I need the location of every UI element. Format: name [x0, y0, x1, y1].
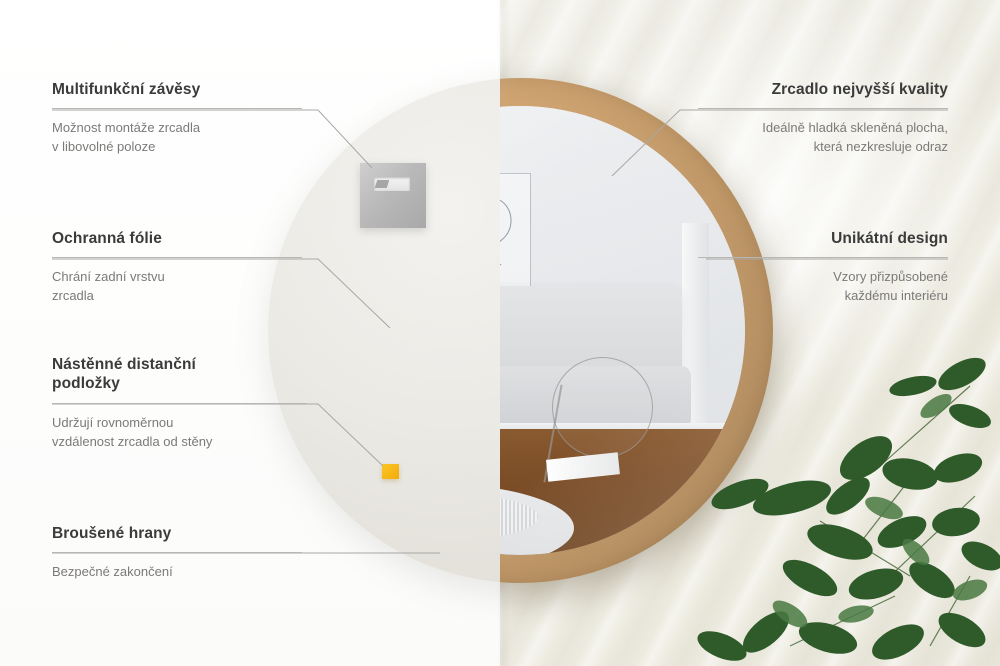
callout-title-line: podložky [52, 374, 307, 393]
callout-rule [698, 108, 948, 109]
callout-desc-line: vzdálenost zrcadla od stěny [52, 433, 307, 452]
mirror-glass-sheen [500, 106, 745, 555]
callout-rule [698, 257, 948, 258]
callout-desc: Udržují rovnoměrnou vzdálenost zrcadla o… [52, 414, 307, 452]
callout-desc-line: Chrání zadní vrstvu [52, 268, 302, 287]
callout-desc-line: v libovolné poloze [52, 138, 302, 157]
callout-desc-line: Vzory přizpůsobené [698, 268, 948, 287]
callout-rule [52, 257, 302, 258]
callout-desc-line: Udržují rovnoměrnou [52, 414, 307, 433]
wall-hanger-plate [360, 163, 426, 228]
callout-desc-line: Bezpečné zakončení [52, 563, 302, 582]
callout-rule [52, 108, 302, 109]
callout-desc: Ideálně hladká skleněná plocha, která ne… [698, 119, 948, 157]
mirror-glass [500, 106, 745, 555]
callout-desc-line: Ideálně hladká skleněná plocha, [698, 119, 948, 138]
callout-title: Zrcadlo nejvyšší kvality [698, 80, 948, 99]
callout-title: Nástěnné distanční podložky [52, 355, 307, 394]
callout-desc-line: která nezkresluje odraz [698, 138, 948, 157]
callout-multifunkcni-zavesy: Multifunkční závěsy Možnost montáže zrca… [52, 80, 302, 157]
callout-nastenne-distancni-podlozky: Nástěnné distanční podložky Udržují rovn… [52, 355, 307, 451]
infographic-canvas: Multifunkční závěsy Možnost montáže zrca… [0, 0, 1000, 666]
callout-desc-line: Možnost montáže zrcadla [52, 119, 302, 138]
callout-desc-line: každému interiéru [698, 287, 948, 306]
callout-desc: Bezpečné zakončení [52, 563, 302, 582]
callout-desc: Možnost montáže zrcadla v libovolné polo… [52, 119, 302, 157]
callout-desc-line: zrcadla [52, 287, 302, 306]
callout-ochranna-folie: Ochranná fólie Chrání zadní vrstvu zrcad… [52, 229, 302, 306]
callout-title: Broušené hrany [52, 524, 302, 543]
callout-title-line: Nástěnné distanční [52, 355, 307, 374]
callout-brousene-hrany: Broušené hrany Bezpečné zakončení [52, 524, 302, 582]
hanger-keyhole-slot [374, 177, 410, 191]
callout-desc: Chrání zadní vrstvu zrcadla [52, 268, 302, 306]
yellow-spacer-pad [382, 464, 399, 479]
callout-title: Ochranná fólie [52, 229, 302, 248]
callout-rule [52, 403, 307, 404]
callout-unikatni-design: Unikátní design Vzory přizpůsobené každé… [698, 229, 948, 306]
callout-desc: Vzory přizpůsobené každému interiéru [698, 268, 948, 306]
callout-title: Unikátní design [698, 229, 948, 248]
callout-title: Multifunkční závěsy [52, 80, 302, 99]
callout-zrcadlo-nejvyssi-kvality: Zrcadlo nejvyšší kvality Ideálně hladká … [698, 80, 948, 157]
callout-rule [52, 552, 302, 553]
